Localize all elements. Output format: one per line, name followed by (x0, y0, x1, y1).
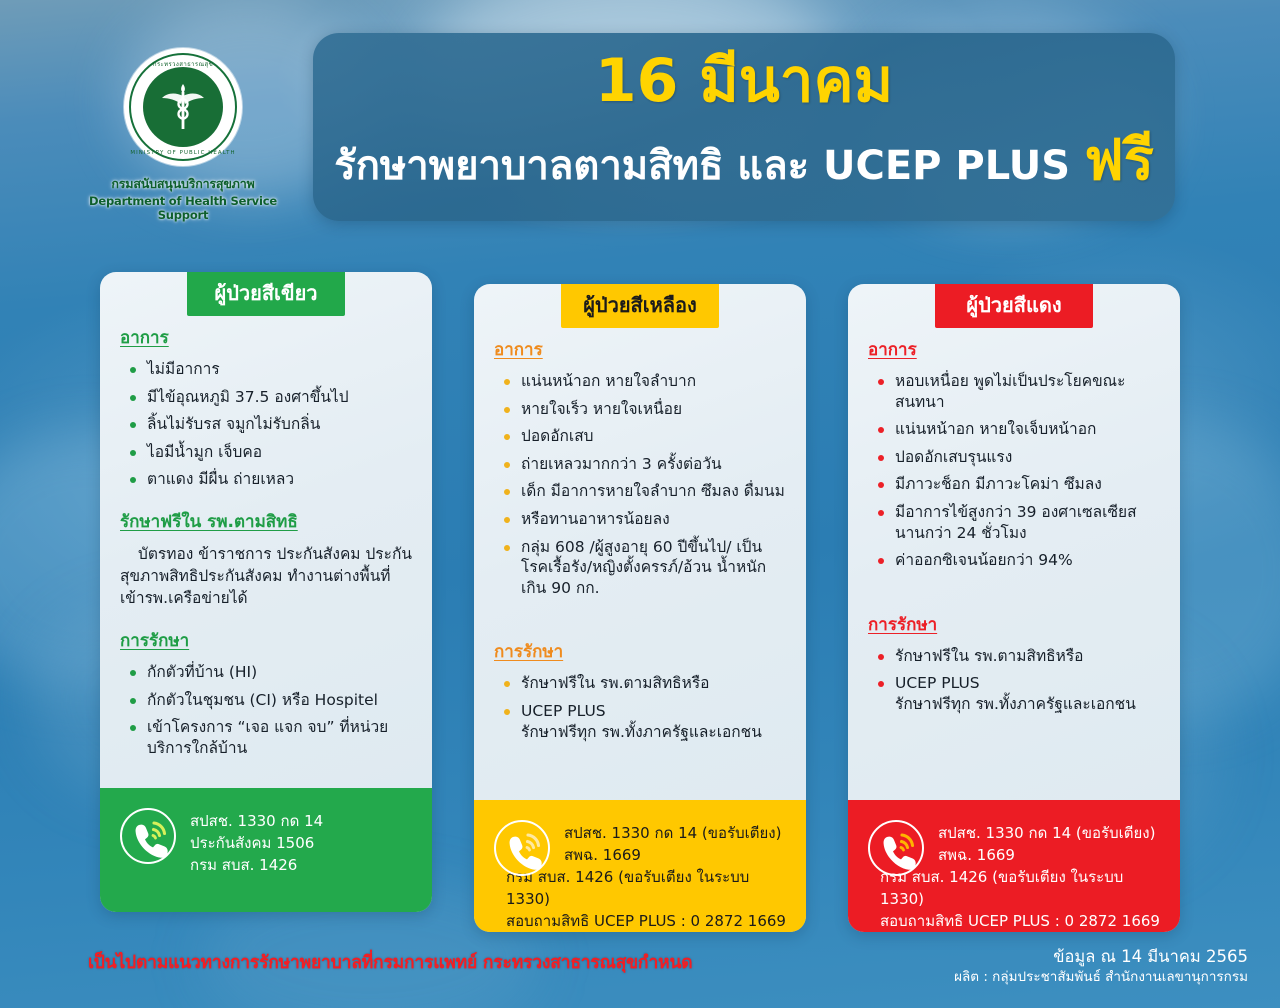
list-item: ไอมีน้ำมูก เจ็บคอ (130, 442, 412, 463)
list-item: UCEP PLUSรักษาฟรีทุก รพ.ทั้งภาครัฐและเอก… (504, 701, 786, 742)
list-item: กักตัวในชุมชน (CI) หรือ Hospitel (130, 690, 412, 711)
rights-text-green: บัตรทอง ข้าราชการ ประกันสังคม ประกันสุขภ… (120, 543, 412, 609)
caduceus-icon (143, 67, 223, 147)
contact-line: ประกันสังคม 1506 (190, 832, 323, 854)
title-main-text: รักษาพยาบาลตามสิทธิ และ UCEP PLUS (334, 133, 1070, 197)
contact-line: สอบถามสิทธิ UCEP PLUS : 0 2872 1669 (506, 910, 790, 932)
symptoms-list-red: หอบเหนื่อย พูดไม่เป็นประโยคขณะสนทนาแน่นห… (878, 371, 1160, 571)
seal-text-bottom: MINISTRY OF PUBLIC HEALTH (126, 150, 240, 156)
title-plate: 16 มีนาคม รักษาพยาบาลตามสิทธิ และ UCEP P… (313, 33, 1175, 221)
contact-lines-red: สปสช. 1330 กด 14 (ขอรับเตียง)สพฉ. 1669กร… (938, 818, 1164, 932)
symptoms-heading-yellow: อาการ (494, 336, 786, 363)
list-item: รักษาฟรีใน รพ.ตามสิทธิหรือ (878, 646, 1160, 667)
symptoms-list-green: ไม่มีอาการมีไข้อุณหภูมิ 37.5 องศาขึ้นไปล… (130, 359, 412, 490)
list-item: หอบเหนื่อย พูดไม่เป็นประโยคขณะสนทนา (878, 371, 1160, 412)
list-item: ลิ้นไม่รับรส จมูกไม่รับกลิ่น (130, 414, 412, 435)
card-badge-green: ผู้ป่วยสีเขียว (187, 272, 345, 316)
list-item: เด็ก มีอาการหายใจลำบาก ซึมลง ดื่มนม (504, 481, 786, 502)
department-name-thai: กรมสนับสนุนบริการสุขภาพ (68, 174, 298, 194)
card-body-red: อาการหอบเหนื่อย พูดไม่เป็นประโยคขณะสนทนา… (848, 284, 1180, 800)
card-badge-red: ผู้ป่วยสีแดง (935, 284, 1093, 328)
contact-line: สปสช. 1330 กด 14 (ขอรับเตียง) (564, 822, 790, 844)
symptoms-heading-green: อาการ (120, 324, 412, 351)
treatment-list-red: รักษาฟรีใน รพ.ตามสิทธิหรือUCEP PLUSรักษา… (878, 646, 1160, 715)
list-item: ถ่ายเหลวมากกว่า 3 ครั้งต่อวัน (504, 454, 786, 475)
list-item: UCEP PLUSรักษาฟรีทุก รพ.ทั้งภาครัฐและเอก… (878, 673, 1160, 714)
phone-call-icon (120, 808, 176, 864)
list-item: มีไข้อุณหภูมิ 37.5 องศาขึ้นไป (130, 387, 412, 408)
department-name-english: Department of Health Service Support (68, 194, 298, 222)
list-item: มีภาวะช็อก มีภาวะโคม่า ซึมลง (878, 474, 1160, 495)
contact-lines-yellow: สปสช. 1330 กด 14 (ขอรับเตียง)สพฉ. 1669กร… (564, 818, 790, 932)
title-free-text: ฟรี (1084, 115, 1154, 204)
patient-card-red: ผู้ป่วยสีแดงอาการหอบเหนื่อย พูดไม่เป็นปร… (848, 284, 1180, 932)
list-item: แน่นหน้าอก หายใจเจ็บหน้าอก (878, 419, 1160, 440)
list-item: หายใจเร็ว หายใจเหนื่อย (504, 399, 786, 420)
card-body-yellow: อาการแน่นหน้าอก หายใจลำบากหายใจเร็ว หายใ… (474, 284, 806, 800)
phone-call-icon (494, 820, 550, 876)
patient-category-cards: ผู้ป่วยสีเขียวอาการไม่มีอาการมีไข้อุณหภู… (0, 272, 1280, 932)
card-contact-red: สปสช. 1330 กด 14 (ขอรับเตียง)สพฉ. 1669กร… (848, 800, 1180, 932)
list-item: ไม่มีอาการ (130, 359, 412, 380)
ministry-logo: กระทรวงสาธารณสุข MINIS (68, 48, 298, 222)
treatment-heading-red: การรักษา (868, 611, 1160, 638)
treatment-heading-yellow: การรักษา (494, 638, 786, 665)
footer-guideline-note: เป็นไปตามแนวทางการรักษาพยาบาลที่กรมการแพ… (88, 948, 692, 976)
phone-call-icon (868, 820, 924, 876)
title-date: 16 มีนาคม (595, 50, 893, 113)
footer-meta: ข้อมูล ณ 14 มีนาคม 2565 ผลิต : กลุ่มประช… (954, 946, 1248, 987)
treatment-heading-green: การรักษา (120, 627, 412, 654)
contact-line: กรม สบส. 1426 (190, 854, 323, 876)
list-item: ตาแดง มีผื่น ถ่ายเหลว (130, 469, 412, 490)
footer-data-date: ข้อมูล ณ 14 มีนาคม 2565 (954, 946, 1248, 968)
card-badge-yellow: ผู้ป่วยสีเหลือง (561, 284, 719, 328)
list-item: กลุ่ม 608 /ผู้สูงอายุ 60 ปีขึ้นไป/ เป็นโ… (504, 537, 786, 599)
contact-lines-green: สปสช. 1330 กด 14ประกันสังคม 1506กรม สบส.… (190, 806, 323, 876)
list-item: ปอดอักเสบ (504, 426, 786, 447)
title-subline: รักษาพยาบาลตามสิทธิ และ UCEP PLUS ฟรี (334, 115, 1154, 204)
list-item: หรือทานอาหารน้อยลง (504, 509, 786, 530)
list-item: เข้าโครงการ “เจอ แจก จบ” ที่หน่วยบริการใ… (130, 717, 412, 758)
symptoms-list-yellow: แน่นหน้าอก หายใจลำบากหายใจเร็ว หายใจเหนื… (504, 371, 786, 598)
list-item: มีอาการไข้สูงกว่า 39 องศาเซลเซียส นานกว่… (878, 502, 1160, 543)
infographic-poster: กระทรวงสาธารณสุข MINIS (0, 0, 1280, 1008)
list-item: ปอดอักเสบรุนแรง (878, 447, 1160, 468)
symptoms-heading-red: อาการ (868, 336, 1160, 363)
contact-line: สพฉ. 1669 (938, 844, 1164, 866)
card-body-green: อาการไม่มีอาการมีไข้อุณหภูมิ 37.5 องศาขึ… (100, 272, 432, 788)
list-item: รักษาฟรีใน รพ.ตามสิทธิหรือ (504, 673, 786, 694)
list-item: แน่นหน้าอก หายใจลำบาก (504, 371, 786, 392)
treatment-list-green: กักตัวที่บ้าน (HI)กักตัวในชุมชน (CI) หรื… (130, 662, 412, 758)
ministry-seal-icon: กระทรวงสาธารณสุข MINIS (124, 48, 242, 166)
card-contact-green: สปสช. 1330 กด 14ประกันสังคม 1506กรม สบส.… (100, 788, 432, 912)
patient-card-green: ผู้ป่วยสีเขียวอาการไม่มีอาการมีไข้อุณหภู… (100, 272, 432, 912)
list-item: กักตัวที่บ้าน (HI) (130, 662, 412, 683)
contact-line: สพฉ. 1669 (564, 844, 790, 866)
contact-line: สปสช. 1330 กด 14 (ขอรับเตียง) (938, 822, 1164, 844)
contact-line: สอบถามสิทธิ UCEP PLUS : 0 2872 1669 (880, 910, 1164, 932)
card-contact-yellow: สปสช. 1330 กด 14 (ขอรับเตียง)สพฉ. 1669กร… (474, 800, 806, 932)
rights-heading-green: รักษาฟรีใน รพ.ตามสิทธิ (120, 508, 412, 535)
poster-header: กระทรวงสาธารณสุข MINIS (0, 0, 1280, 250)
contact-line: สปสช. 1330 กด 14 (190, 810, 323, 832)
patient-card-yellow: ผู้ป่วยสีเหลืองอาการแน่นหน้าอก หายใจลำบา… (474, 284, 806, 932)
footer-produced-by: ผลิต : กลุ่มประชาสัมพันธ์ สำนักงานเลขานุ… (954, 968, 1248, 987)
treatment-list-yellow: รักษาฟรีใน รพ.ตามสิทธิหรือUCEP PLUSรักษา… (504, 673, 786, 742)
list-item: ค่าออกซิเจนน้อยกว่า 94% (878, 550, 1160, 571)
